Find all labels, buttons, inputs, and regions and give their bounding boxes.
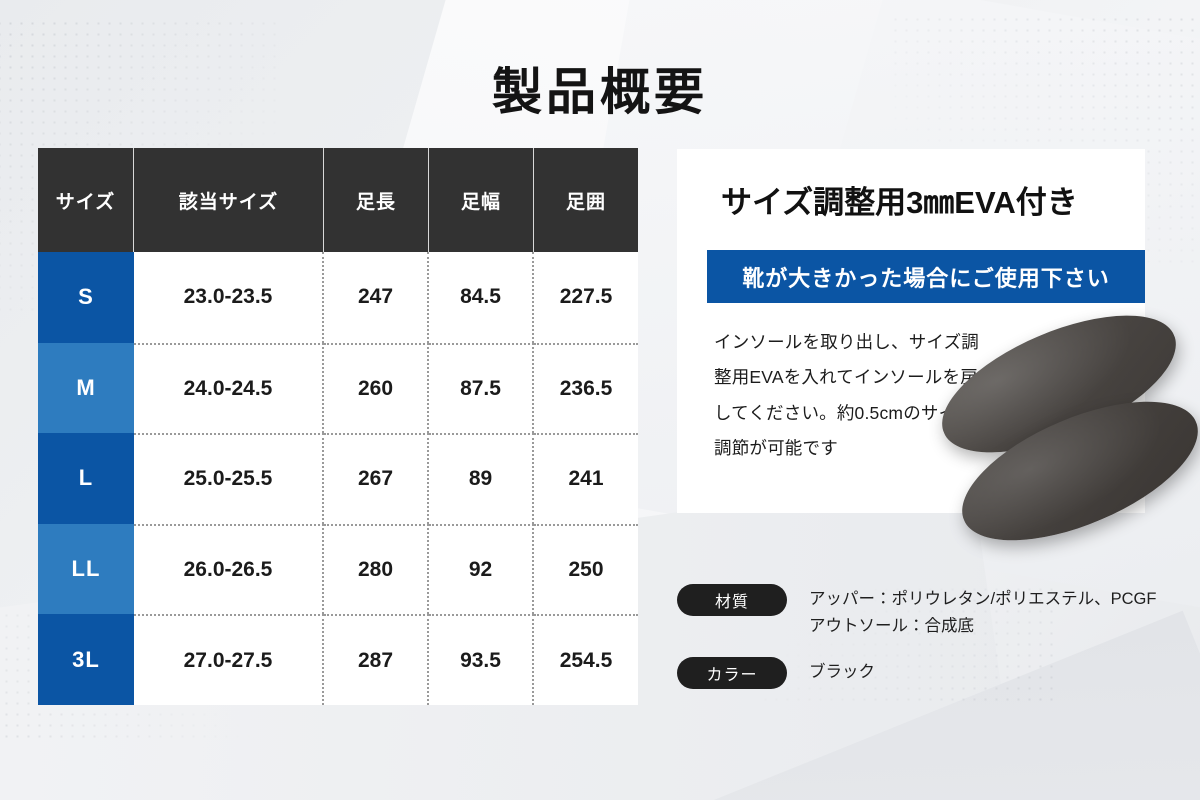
page-title: 製品概要 [0, 52, 1200, 124]
cell-fit-size: 24.0-24.5 [134, 343, 324, 434]
table-header-row: サイズ 該当サイズ 足長 足幅 足囲 [38, 148, 638, 252]
cell-foot-length: 280 [324, 524, 429, 615]
table-row: L 25.0-25.5 267 89 241 [38, 433, 638, 524]
eva-panel-body-text: インソールを取り出し、サイズ調整用EVAを入れてインソールを戻してください。約0… [714, 325, 982, 466]
table-row: LL 26.0-26.5 280 92 250 [38, 524, 638, 615]
eva-panel-heading: サイズ調整用3㎜EVA付き [677, 149, 1145, 250]
eva-panel-callout: 靴が大きかった場合にご使用下さい [707, 250, 1145, 303]
cell-foot-girth: 241 [534, 433, 638, 524]
spec-label-color: カラー [677, 657, 787, 689]
cell-size: LL [38, 524, 134, 615]
column-header-fit-size: 該当サイズ [134, 148, 324, 252]
cell-foot-width: 92 [429, 524, 534, 615]
spec-color-line: ブラック [809, 659, 875, 686]
cell-foot-width: 89 [429, 433, 534, 524]
cell-fit-size: 27.0-27.5 [134, 614, 324, 705]
cell-foot-width: 93.5 [429, 614, 534, 705]
spec-material-line-upper: アッパー：ポリウレタン/ポリエステル、PCGF [809, 586, 1156, 613]
cell-fit-size: 26.0-26.5 [134, 524, 324, 615]
cell-size: S [38, 252, 134, 343]
spec-row-color: カラー ブラック [677, 657, 1177, 689]
column-header-size: サイズ [38, 148, 134, 252]
cell-foot-length: 247 [324, 252, 429, 343]
cell-size: 3L [38, 614, 134, 705]
table-row: 3L 27.0-27.5 287 93.5 254.5 [38, 614, 638, 705]
cell-fit-size: 23.0-23.5 [134, 252, 324, 343]
column-header-foot-girth: 足囲 [534, 148, 638, 252]
column-header-foot-width: 足幅 [429, 148, 534, 252]
spec-value-material: アッパー：ポリウレタン/ポリエステル、PCGF アウトソール：合成底 [809, 584, 1156, 639]
cell-foot-girth: 254.5 [534, 614, 638, 705]
spec-row-material: 材質 アッパー：ポリウレタン/ポリエステル、PCGF アウトソール：合成底 [677, 584, 1177, 639]
cell-foot-width: 87.5 [429, 343, 534, 434]
column-header-foot-length: 足長 [324, 148, 429, 252]
spec-material-line-outsole: アウトソール：合成底 [809, 613, 1156, 640]
cell-foot-length: 287 [324, 614, 429, 705]
cell-foot-length: 267 [324, 433, 429, 524]
cell-size: L [38, 433, 134, 524]
cell-foot-girth: 236.5 [534, 343, 638, 434]
cell-foot-length: 260 [324, 343, 429, 434]
size-table: サイズ 該当サイズ 足長 足幅 足囲 S 23.0-23.5 247 84.5 … [38, 148, 638, 705]
cell-size: M [38, 343, 134, 434]
eva-info-panel: サイズ調整用3㎜EVA付き 靴が大きかった場合にご使用下さい インソールを取り出… [677, 149, 1145, 513]
cell-fit-size: 25.0-25.5 [134, 433, 324, 524]
spec-list: 材質 アッパー：ポリウレタン/ポリエステル、PCGF アウトソール：合成底 カラ… [677, 584, 1177, 707]
cell-foot-girth: 227.5 [534, 252, 638, 343]
spec-label-material: 材質 [677, 584, 787, 616]
table-row: M 24.0-24.5 260 87.5 236.5 [38, 343, 638, 434]
cell-foot-width: 84.5 [429, 252, 534, 343]
table-row: S 23.0-23.5 247 84.5 227.5 [38, 252, 638, 343]
cell-foot-girth: 250 [534, 524, 638, 615]
spec-value-color: ブラック [809, 657, 875, 686]
